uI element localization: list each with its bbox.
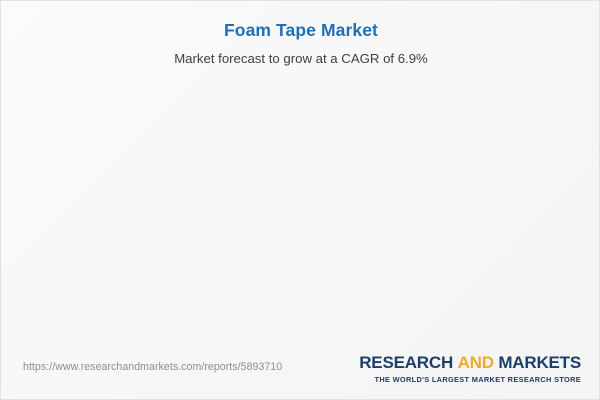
report-url[interactable]: https://www.researchandmarkets.com/repor… bbox=[23, 361, 282, 373]
brand-logo[interactable]: RESEARCH AND MARKETS THE WORLD'S LARGEST… bbox=[359, 353, 581, 384]
logo-word-research: RESEARCH bbox=[359, 353, 453, 372]
logo-word-markets: MARKETS bbox=[498, 353, 581, 372]
logo-wordmark: RESEARCH AND MARKETS bbox=[359, 353, 581, 373]
market-forecast-card: Foam Tape Market Market forecast to grow… bbox=[0, 0, 600, 400]
logo-tagline: THE WORLD'S LARGEST MARKET RESEARCH STOR… bbox=[359, 375, 581, 384]
logo-word-and: AND bbox=[458, 353, 494, 372]
footer: https://www.researchandmarkets.com/repor… bbox=[1, 347, 600, 399]
chart-plot-area: USD 9.37 Billion 2024 USD 14.12 Billion bbox=[1, 1, 600, 349]
